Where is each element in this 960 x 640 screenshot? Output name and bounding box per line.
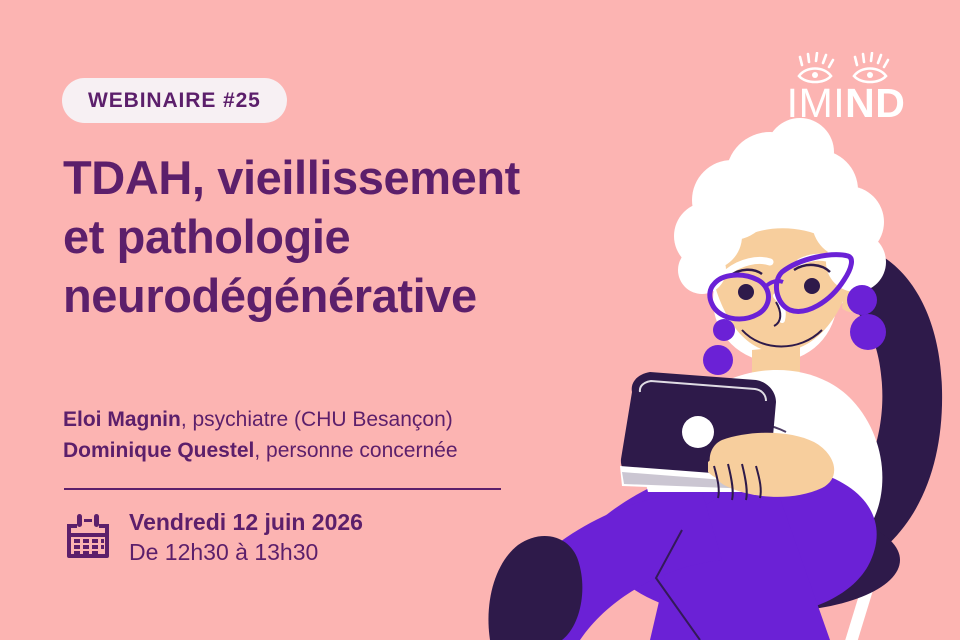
speaker-row: Dominique Questel, personne concernée <box>63 435 623 466</box>
schedule-text: Vendredi 12 juin 2026 De 12h30 à 13h30 <box>129 507 363 567</box>
hand-and-arm <box>708 433 834 500</box>
imind-wordmark-light: IMI <box>787 82 845 124</box>
hair-curls <box>674 118 886 320</box>
imind-wordmark-bold: ND <box>845 82 905 124</box>
title-line-3: neurodégénérative <box>63 266 603 325</box>
chair-legs <box>710 558 882 640</box>
webinar-number-badge-label: WEBINAIRE #25 <box>88 89 261 113</box>
speaker-name: Eloi Magnin <box>63 408 181 431</box>
webinar-number-badge: WEBINAIRE #25 <box>62 78 287 123</box>
schedule-block: Vendredi 12 juin 2026 De 12h30 à 13h30 <box>63 507 363 567</box>
hair-back <box>713 215 860 362</box>
pants <box>522 463 877 640</box>
speakers-list: Eloi Magnin, psychiatre (CHU Besançon) D… <box>63 404 623 466</box>
schedule-time: De 12h30 à 13h30 <box>129 537 363 567</box>
speaker-name: Dominique Questel <box>63 439 254 462</box>
head <box>674 118 886 375</box>
speaker-row: Eloi Magnin, psychiatre (CHU Besançon) <box>63 404 623 435</box>
calendar-icon <box>63 512 113 562</box>
earrings <box>703 285 886 375</box>
divider <box>64 488 501 490</box>
neck <box>752 345 800 415</box>
sweater <box>666 370 882 562</box>
speaker-role: , personne concernée <box>254 439 457 462</box>
page-title: TDAH, vieillissement et pathologie neuro… <box>63 148 603 325</box>
left-eye <box>738 284 754 300</box>
imind-wordmark: IMIND <box>786 82 906 124</box>
title-line-1: TDAH, vieillissement <box>63 148 603 207</box>
speaker-role: , psychiatre (CHU Besançon) <box>181 408 453 431</box>
shoe <box>488 536 582 640</box>
title-line-2: et pathologie <box>63 207 603 266</box>
laptop <box>620 372 782 492</box>
webinar-poster: IMIND WEBINAIRE #25 TDAH, vieillissement… <box>0 0 960 640</box>
glasses <box>710 255 852 319</box>
right-eye <box>804 278 820 294</box>
chair-body <box>640 240 942 612</box>
imind-logo[interactable]: IMIND <box>786 52 906 124</box>
schedule-date: Vendredi 12 juin 2026 <box>129 507 363 537</box>
